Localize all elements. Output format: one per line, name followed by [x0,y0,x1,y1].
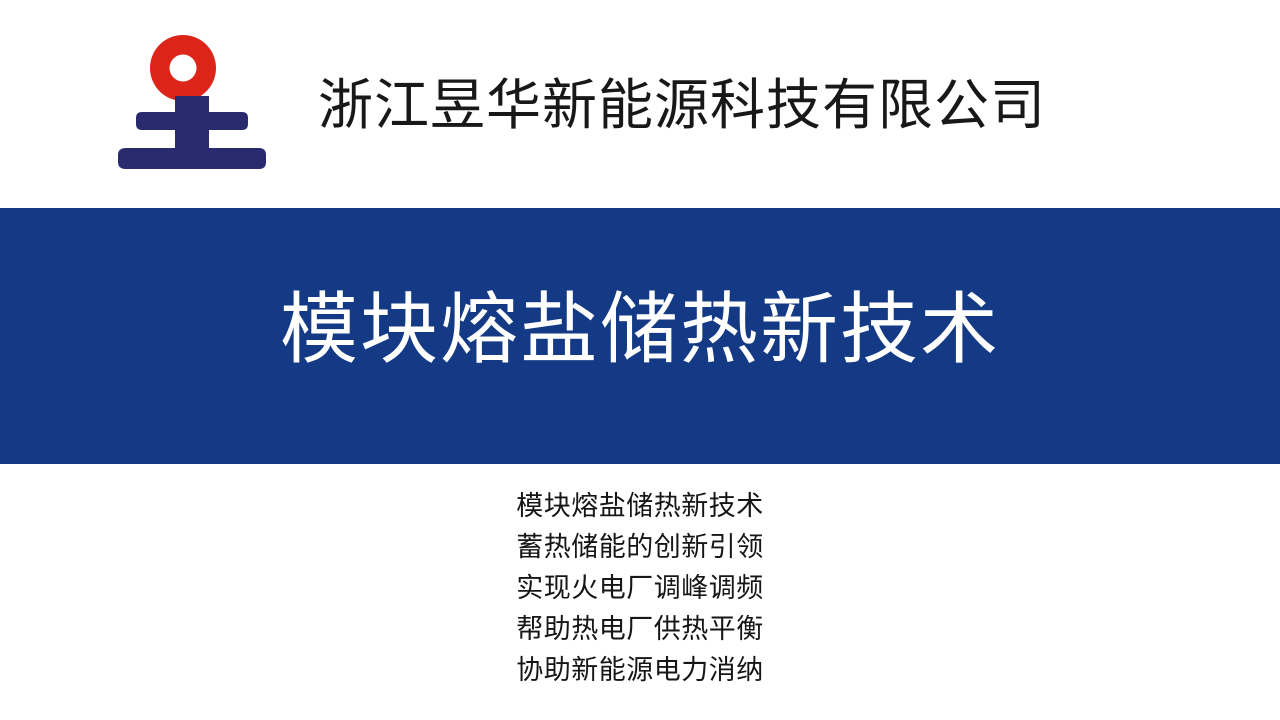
subtitle-list: 模块熔盐储热新技术 蓄热储能的创新引领 实现火电厂调峰调频 帮助热电厂供热平衡 … [0,486,1280,691]
list-item: 蓄热储能的创新引领 [0,527,1280,568]
list-item: 帮助热电厂供热平衡 [0,609,1280,650]
list-item: 实现火电厂调峰调频 [0,568,1280,609]
company-name: 浙江昱华新能源科技有限公司 [318,74,1018,138]
company-logo-icon [112,28,272,176]
title-band: 模块熔盐储热新技术 [0,208,1280,464]
slide-header: 浙江昱华新能源科技有限公司 [0,0,1280,208]
page-title: 模块熔盐储热新技术 [0,282,1280,378]
list-item: 模块熔盐储热新技术 [0,486,1280,527]
list-item: 协助新能源电力消纳 [0,650,1280,691]
